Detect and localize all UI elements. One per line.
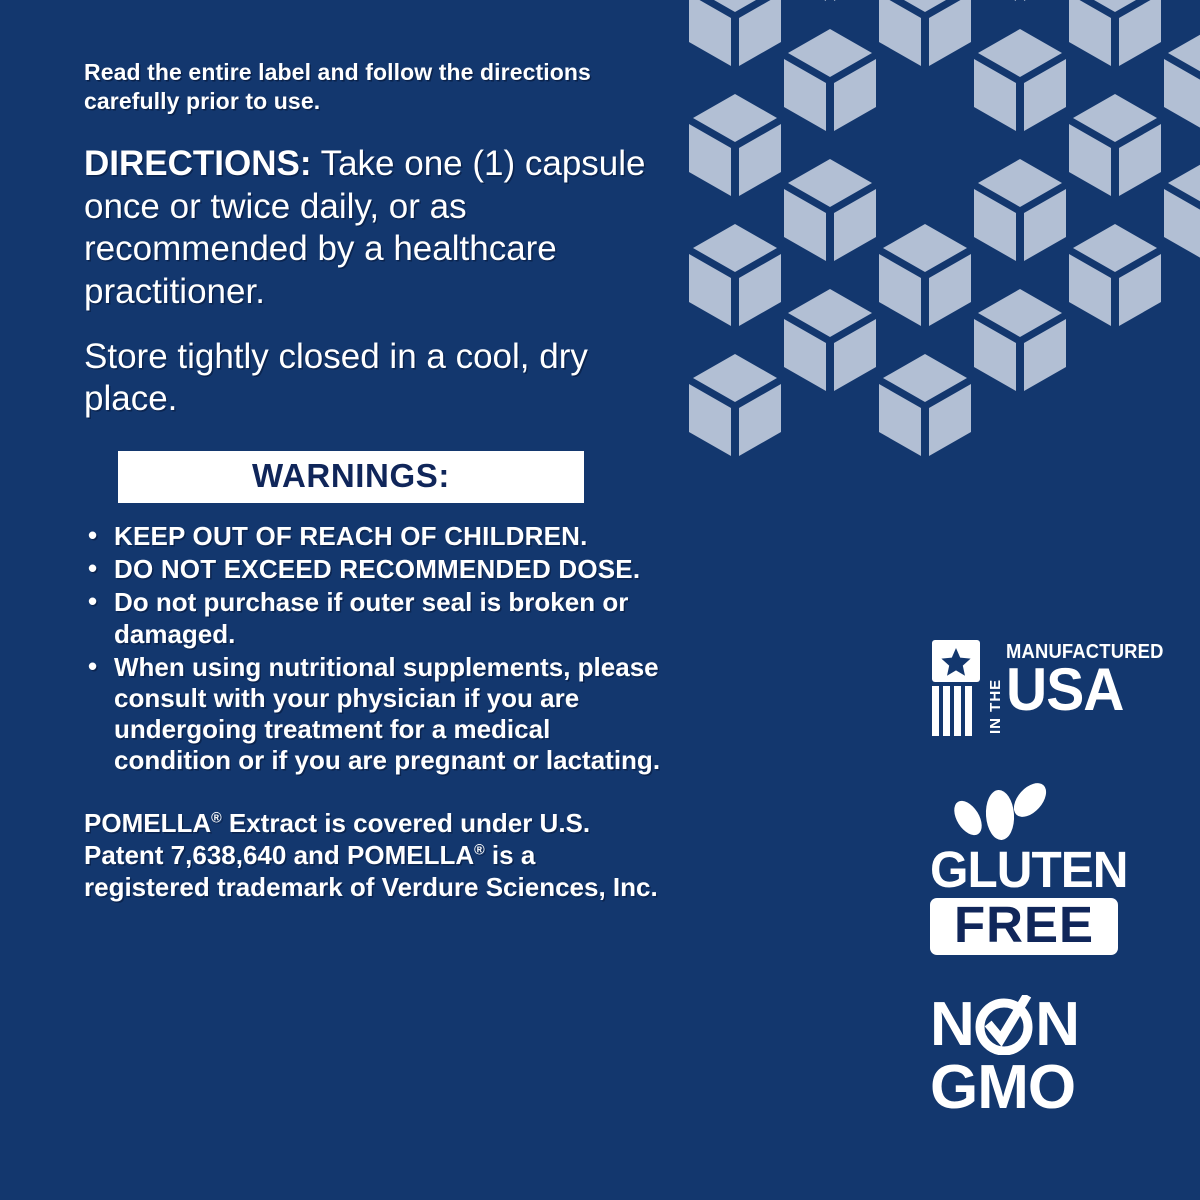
- warning-item: When using nutritional supplements, plea…: [84, 652, 664, 777]
- usa-flag-star-icon: [930, 640, 982, 736]
- label-text-column: Read the entire label and follow the dir…: [84, 58, 664, 903]
- pomella-brand-first: POMELLA: [84, 808, 211, 838]
- read-label-notice: Read the entire label and follow the dir…: [84, 58, 664, 117]
- directions-paragraph: DIRECTIONS: Take one (1) capsule once or…: [84, 143, 664, 314]
- non-word-row: N N: [930, 995, 1140, 1055]
- in-the-label: IN THE: [988, 662, 1003, 734]
- gmo-label: GMO: [930, 1057, 1140, 1119]
- usa-label: USA: [1006, 664, 1169, 716]
- badge-manufactured-in-usa: IN THE MANUFACTURED USA: [930, 640, 1180, 740]
- registered-mark-icon: ®: [211, 810, 222, 826]
- warnings-title-box: WARNINGS:: [118, 451, 584, 503]
- free-label: FREE: [930, 898, 1118, 955]
- badge-gluten-free: GLUTEN FREE: [930, 782, 1130, 955]
- warning-item: DO NOT EXCEED RECOMMENDED DOSE.: [84, 554, 664, 585]
- check-circle-icon: [974, 995, 1034, 1055]
- registered-mark-icon: ®: [474, 842, 485, 858]
- non-letter-n-left: N: [930, 996, 973, 1054]
- storage-instructions: Store tightly closed in a cool, dry plac…: [84, 336, 664, 421]
- directions-heading: DIRECTIONS:: [84, 144, 312, 183]
- patent-trademark-notice: POMELLA® Extract is covered under U.S. P…: [84, 807, 664, 904]
- warning-item: KEEP OUT OF REACH OF CHILDREN.: [84, 521, 664, 552]
- warning-item: Do not purchase if outer seal is broken …: [84, 587, 664, 649]
- gluten-label: GLUTEN: [930, 846, 1124, 895]
- supplement-label-panel: Read the entire label and follow the dir…: [0, 0, 1200, 1200]
- geometric-background-pattern: [640, 0, 1200, 550]
- badge-non-gmo: N N GMO: [930, 995, 1140, 1119]
- wheat-grains-icon: [944, 782, 1130, 844]
- certification-badges: IN THE MANUFACTURED USA GLUTEN FREE: [930, 640, 1180, 1119]
- warnings-list: KEEP OUT OF REACH OF CHILDREN. DO NOT EX…: [84, 521, 664, 777]
- usa-badge-text: IN THE MANUFACTURED USA: [988, 640, 1177, 734]
- non-letter-n-right: N: [1035, 996, 1078, 1054]
